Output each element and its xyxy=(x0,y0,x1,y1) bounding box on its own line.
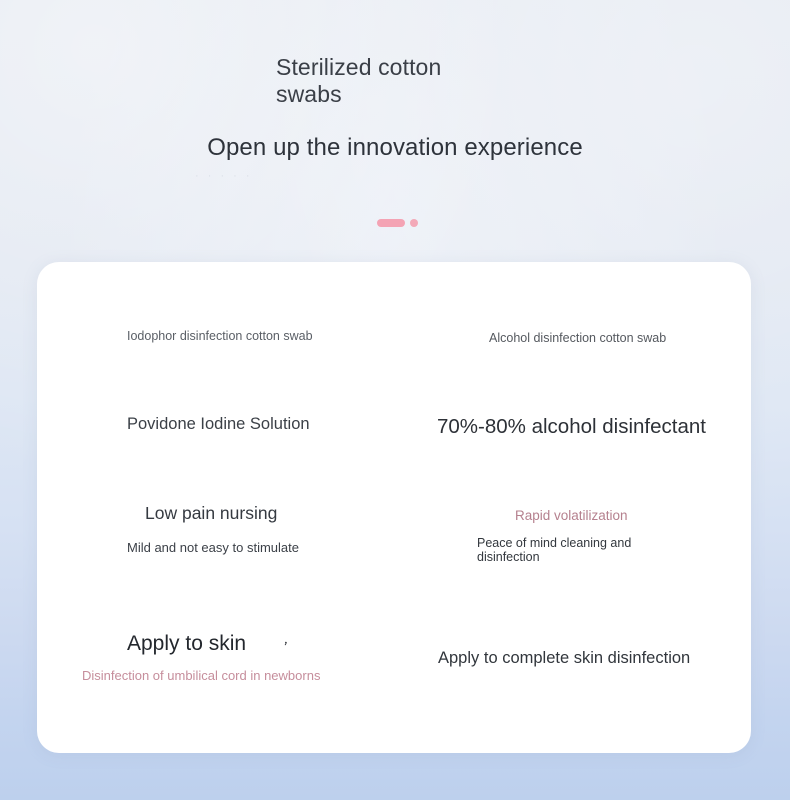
pagination-dot-inactive[interactable] xyxy=(410,219,418,227)
hero-subtitle: Open up the innovation experience xyxy=(0,133,790,163)
hero-title: Sterilized cotton swabs xyxy=(276,54,506,108)
background-ghost-text: · · · · · xyxy=(195,170,615,188)
product-comparison-page: Sterilized cotton swabs Open up the inno… xyxy=(0,0,790,800)
column-iodophor-row-2-title: Low pain nursing xyxy=(145,501,277,525)
column-iodophor-row-3-title: Apply to skin xyxy=(127,629,246,658)
carousel-pagination[interactable] xyxy=(377,219,418,227)
column-alcohol-row-1-title: 70%-80% alcohol disinfectant xyxy=(437,413,706,441)
column-alcohol-row-2-title: Rapid volatilization xyxy=(515,506,628,525)
column-alcohol-row-2-subtitle: Peace of mind cleaning and disinfection xyxy=(477,536,667,564)
column-iodophor-row-3-subtitle: Disinfection of umbilical cord in newbor… xyxy=(82,667,320,685)
pagination-dot-active[interactable] xyxy=(377,219,405,227)
column-alcohol-kicker: Alcohol disinfection cotton swab xyxy=(489,330,666,347)
column-iodophor-row-1-title: Povidone Iodine Solution xyxy=(127,413,310,436)
column-iodophor-row-2-subtitle: Mild and not easy to stimulate xyxy=(127,539,299,557)
column-iodophor-kicker: Iodophor disinfection cotton swab xyxy=(127,328,313,345)
column-alcohol-row-3-title: Apply to complete skin disinfection xyxy=(438,647,690,670)
